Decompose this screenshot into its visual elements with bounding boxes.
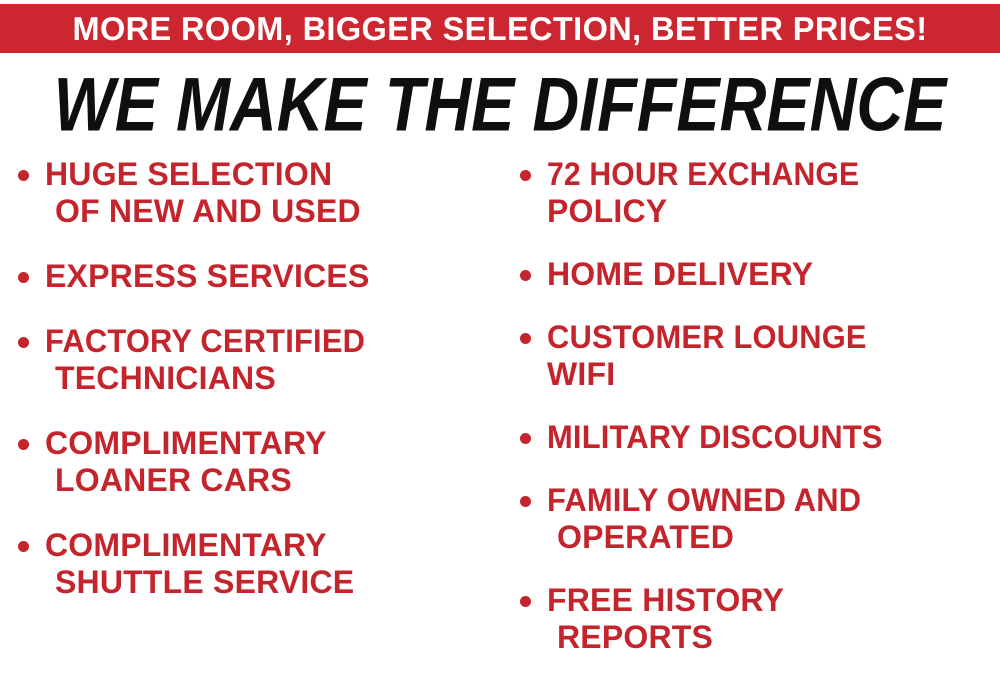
bullet-dot-icon [520, 170, 531, 181]
list-item: COMPLIMENTARY LOANER CARS [18, 425, 502, 499]
list-item-line-2: WIFI [547, 356, 1000, 393]
list-item-line-1: COMPLIMENTARY [45, 425, 502, 462]
list-item: FREE HISTORY REPORTS [520, 582, 1000, 656]
list-item-line-2: REPORTS [547, 619, 1000, 656]
list-item-line-1: FREE HISTORY [547, 582, 1000, 619]
bullet-dot-icon [18, 337, 29, 348]
list-item-line-1: COMPLIMENTARY [45, 527, 502, 564]
bullet-dot-icon [18, 170, 29, 181]
list-item-line-2: SHUTTLE SERVICE [45, 564, 502, 601]
list-item-text: 72 HOUR EXCHANGE POLICY [547, 156, 1000, 230]
list-item-text: FACTORY CERTIFIED TECHNICIANS [45, 323, 502, 397]
list-item-line-1: 72 HOUR EXCHANGE [547, 156, 973, 193]
list-item: HUGE SELECTION OF NEW AND USED [18, 156, 502, 230]
bullet-dot-icon [18, 272, 29, 283]
bullet-dot-icon [520, 270, 531, 281]
list-item-line-2: LOANER CARS [45, 462, 502, 499]
bullet-dot-icon [18, 541, 29, 552]
bullet-dot-icon [520, 596, 531, 607]
list-item-line-1: CUSTOMER LOUNGE [547, 319, 984, 356]
benefits-column-left: HUGE SELECTION OF NEW AND USED EXPRESS S… [0, 156, 502, 694]
list-item: FACTORY CERTIFIED TECHNICIANS [18, 323, 502, 397]
list-item-text: COMPLIMENTARY LOANER CARS [45, 425, 502, 499]
bullet-dot-icon [520, 333, 531, 344]
list-item-text: CUSTOMER LOUNGE WIFI [547, 319, 1000, 393]
list-item-line-1: HOME DELIVERY [547, 256, 1000, 293]
list-item-line-1: FAMILY OWNED AND [547, 482, 984, 519]
bullet-dot-icon [520, 496, 531, 507]
list-item: MILITARY DISCOUNTS [520, 419, 1000, 456]
list-item-text: COMPLIMENTARY SHUTTLE SERVICE [45, 527, 502, 601]
list-item-line-2: POLICY [547, 193, 1000, 230]
list-item-text: HOME DELIVERY [547, 256, 1000, 293]
bullet-dot-icon [18, 439, 29, 450]
list-item-text: HUGE SELECTION OF NEW AND USED [45, 156, 502, 230]
list-item-line-1: MILITARY DISCOUNTS [547, 419, 984, 456]
list-item-line-2: OF NEW AND USED [45, 193, 502, 230]
list-item-text: MILITARY DISCOUNTS [547, 419, 1000, 456]
list-item: HOME DELIVERY [520, 256, 1000, 293]
list-item: 72 HOUR EXCHANGE POLICY [520, 156, 1000, 230]
main-headline: WE MAKE THE DIFFERENCE [54, 66, 947, 142]
list-item: CUSTOMER LOUNGE WIFI [520, 319, 1000, 393]
list-item-text: FREE HISTORY REPORTS [547, 582, 1000, 656]
list-item-text: FAMILY OWNED AND OPERATED [547, 482, 1000, 556]
benefits-columns: HUGE SELECTION OF NEW AND USED EXPRESS S… [0, 150, 1000, 694]
list-item-line-2: OPERATED [547, 519, 1000, 556]
top-banner: MORE ROOM, BIGGER SELECTION, BETTER PRIC… [0, 4, 1000, 53]
bullet-dot-icon [520, 433, 531, 444]
banner-headline-text: MORE ROOM, BIGGER SELECTION, BETTER PRIC… [73, 12, 928, 45]
list-item-text: EXPRESS SERVICES [45, 258, 502, 295]
list-item: EXPRESS SERVICES [18, 258, 502, 295]
list-item-line-2: TECHNICIANS [45, 360, 502, 397]
list-item-line-1: HUGE SELECTION [45, 156, 502, 193]
advertisement-poster: MORE ROOM, BIGGER SELECTION, BETTER PRIC… [0, 0, 1000, 694]
list-item: COMPLIMENTARY SHUTTLE SERVICE [18, 527, 502, 601]
list-item-line-1: FACTORY CERTIFIED [45, 323, 486, 360]
list-item-line-1: EXPRESS SERVICES [45, 258, 502, 295]
headline-section: WE MAKE THE DIFFERENCE [0, 53, 1000, 150]
list-item: FAMILY OWNED AND OPERATED [520, 482, 1000, 556]
benefits-column-right: 72 HOUR EXCHANGE POLICY HOME DELIVERY CU… [502, 156, 1000, 694]
